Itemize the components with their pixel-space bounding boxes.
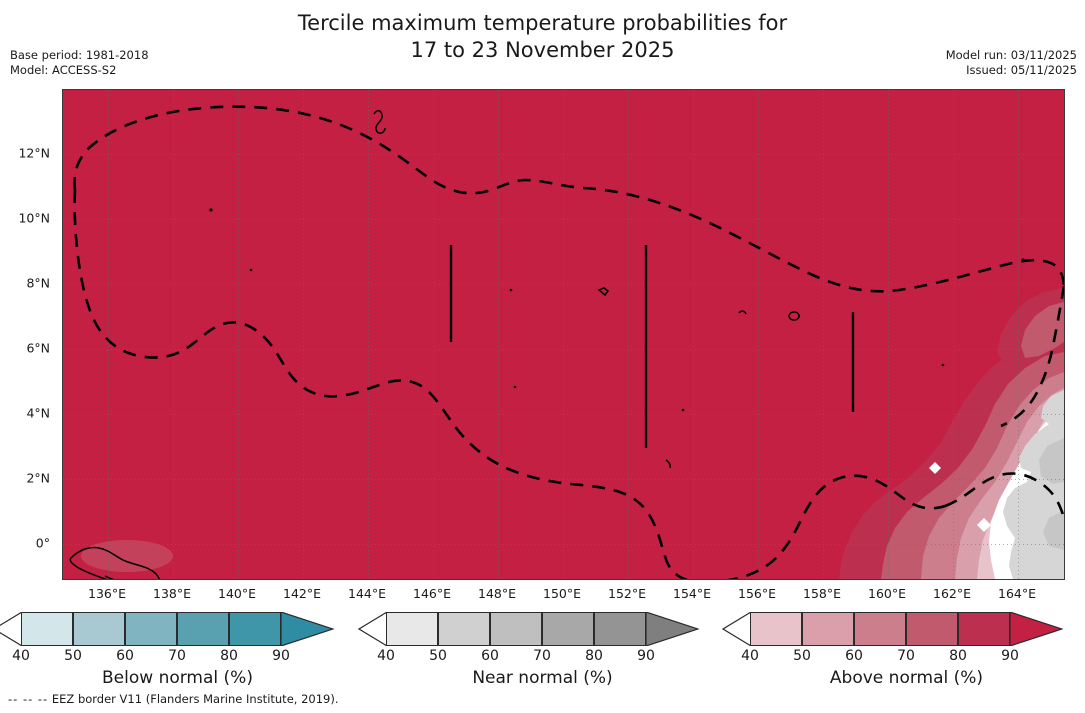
footer-legend: -- -- -- EEZ border V11 (Flanders Marine… [8,692,339,706]
x-tick-label: 152°E [608,586,646,601]
title-line-1: Tercile maximum temperature probabilitie… [0,10,1085,37]
x-tick-label: 140°E [218,586,256,601]
colorbar-bar: 40 50 60 70 80 90 [750,612,1063,646]
colorbar-segment [542,612,594,646]
x-tick-label: 148°E [478,586,516,601]
y-tick-label: 4°N [26,406,50,421]
y-tick-label: 0° [36,536,50,551]
colorbar-segment [906,612,958,646]
y-tick-label: 12°N [18,146,50,161]
colorbar-segment [802,612,854,646]
issued-text: Issued: 05/11/2025 [946,63,1077,78]
eez-border-line [429,392,703,579]
colorbar-max-arrow [281,612,317,646]
island-dot [250,269,253,272]
colorbar-tick: 70 [533,648,551,664]
colorbar-segment [594,612,646,646]
colorbar-bar: 40 50 60 70 80 90 [21,612,334,646]
colorbar-segment [386,612,438,646]
colorbar-tick: 80 [220,648,238,664]
colorbar-segment [750,612,802,646]
island-coastline-papua-2 [105,576,123,579]
colorbar-tick: 40 [377,648,395,664]
colorbar-segment [229,612,281,646]
y-axis-labels: 12°N 10°N 8°N 6°N 4°N 2°N 0° [0,89,58,578]
colorbar-tick: 40 [741,648,759,664]
colorbar-tick: 60 [116,648,134,664]
x-tick-label: 154°E [673,586,711,601]
colorbar-segment [177,612,229,646]
eez-border-line [75,107,583,194]
colorbar-segment [21,612,73,646]
eez-border-line [1001,286,1064,426]
eez-border-line [703,476,945,579]
island-dot [510,289,513,292]
eez-border-layer [63,90,1064,579]
island-coastline-papua [70,547,159,579]
footer-text: EEZ border V11 (Flanders Marine Institut… [52,692,339,706]
x-tick-label: 156°E [738,586,776,601]
page-title: Tercile maximum temperature probabilitie… [0,10,1085,64]
x-tick-label: 144°E [348,586,386,601]
island-coastline-small-3 [739,311,746,314]
y-tick-label: 6°N [26,341,50,356]
colorbar-tick: 40 [12,648,30,664]
x-tick-label: 164°E [998,586,1036,601]
map-canvas: © Commonwealth of Australia 2025, Bureau… [63,90,1064,579]
island-coastline-small-5 [666,460,670,468]
colorbar-segment [958,612,1010,646]
colorbar-tick: 50 [64,648,82,664]
eez-dash-sample: -- -- -- [8,692,48,706]
probability-map[interactable]: © Commonwealth of Australia 2025, Bureau… [62,89,1065,580]
colorbar-tick: 50 [429,648,447,664]
colorbar-tick: 80 [585,648,603,664]
island-dot [209,208,212,211]
island-dot [1021,258,1024,261]
metadata-right: Model run: 03/11/2025 Issued: 05/11/2025 [946,48,1077,78]
x-tick-label: 158°E [803,586,841,601]
colorbar-tick: 70 [897,648,915,664]
y-tick-label: 10°N [18,211,50,226]
island-coastline-small-4 [789,312,799,320]
colorbar-segment [490,612,542,646]
colorbar-bar: 40 50 60 70 80 90 [386,612,699,646]
x-tick-label: 162°E [933,586,971,601]
island-dot [682,409,685,412]
island-coastline-small-2 [599,288,608,295]
x-tick-label: 138°E [153,586,191,601]
metadata-left: Base period: 1981-2018 Model: ACCESS-S2 [10,48,149,78]
colorbar-label: Below normal (%) [0,668,355,688]
colorbar-tick: 70 [168,648,186,664]
island-coastline-small-1 [374,111,385,133]
base-period-text: Base period: 1981-2018 [10,48,149,63]
colorbar-tick: 80 [949,648,967,664]
colorbar-tick: 90 [637,648,655,664]
eez-border-line [583,188,1064,291]
colorbar-tick: 60 [845,648,863,664]
x-tick-label: 150°E [543,586,581,601]
colorbar-above-normal[interactable]: 40 50 60 70 80 90 Above normal (%) [729,612,1084,690]
colorbar-tick: 90 [1001,648,1019,664]
colorbar-segment [438,612,490,646]
y-tick-label: 2°N [26,471,50,486]
title-line-2: 17 to 23 November 2025 [0,37,1085,64]
colorbar-tick: 60 [481,648,499,664]
colorbar-max-arrow [646,612,682,646]
x-axis-labels: 136°E 138°E 140°E 142°E 144°E 146°E 148°… [0,586,1085,606]
island-dot [514,386,517,389]
x-tick-label: 160°E [868,586,906,601]
y-tick-label: 8°N [26,276,50,291]
colorbar-tick: 90 [272,648,290,664]
colorbar-below-normal[interactable]: 40 50 60 70 80 90 Below normal (%) [0,612,355,690]
colorbar-label: Near normal (%) [365,668,720,688]
eez-border-line [75,190,429,396]
eez-border-line [945,473,1064,518]
model-text: Model: ACCESS-S2 [10,63,149,78]
island-dot [942,364,945,367]
colorbar-segment [125,612,177,646]
colorbar-tick: 50 [793,648,811,664]
colorbar-max-arrow [1010,612,1046,646]
model-run-text: Model run: 03/11/2025 [946,48,1077,63]
x-tick-label: 146°E [413,586,451,601]
x-tick-label: 136°E [88,586,126,601]
colorbar-segment [854,612,906,646]
colorbar-segment [73,612,125,646]
x-tick-label: 142°E [283,586,321,601]
colorbar-near-normal[interactable]: 40 50 60 70 80 90 Near normal (%) [365,612,720,690]
colorbar-label: Above normal (%) [729,668,1084,688]
